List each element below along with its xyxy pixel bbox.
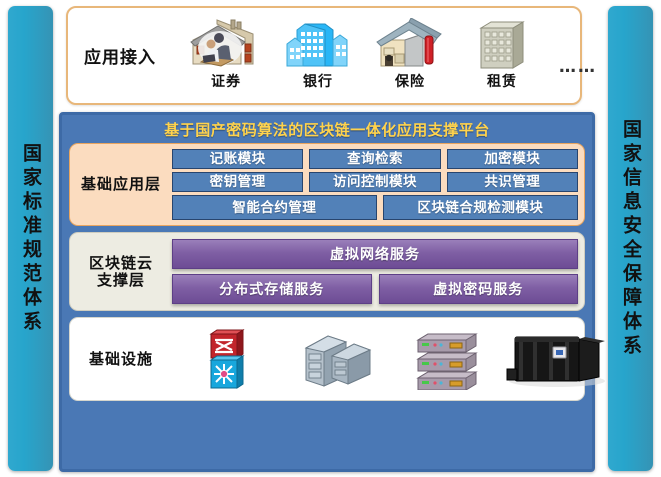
application-access-panel: 应用接入 — [66, 6, 582, 105]
app-item-insurance[interactable]: 保险 — [364, 16, 456, 91]
platform-title: 基于国产密码算法的区块链一体化应用支撑平台 — [62, 115, 592, 143]
right-pillar-information-security: 国家信息安全保障体系 — [608, 6, 653, 471]
basic-application-modules: 记账模块 密钥管理 查询检索 访问控制模块 加密模块 共识管理 — [172, 149, 578, 220]
layer-blockchain-cloud-support-label: 区块链云 支撑层 — [70, 255, 172, 290]
layer-basic-application: 基础应用层 记账模块 密钥管理 查询检索 访问控制模块 — [69, 143, 585, 226]
layer-infrastructure-label: 基础设施 — [70, 351, 172, 368]
securities-office-icon — [180, 16, 272, 70]
diagram-canvas: 国家标准规范体系 国家信息安全保障体系 应用接入 — [0, 0, 661, 477]
application-access-label: 应用接入 — [84, 43, 180, 68]
left-pillar-label: 国家标准规范体系 — [21, 143, 40, 335]
app-item-label: 银行 — [272, 71, 364, 91]
rack-servers-icon — [392, 324, 502, 394]
module-access-control[interactable]: 访问控制模块 — [309, 172, 440, 192]
service-virtual-network[interactable]: 虚拟网络服务 — [172, 239, 578, 269]
layer-blockchain-cloud-support: 区块链云 支撑层 虚拟网络服务 分布式存储服务 虚拟密码服务 — [69, 232, 585, 311]
service-distributed-storage[interactable]: 分布式存储服务 — [172, 274, 372, 304]
mainframe-storage-icon — [502, 324, 612, 394]
left-pillar-national-standards: 国家标准规范体系 — [8, 6, 53, 471]
layer-label-line1: 区块链云 — [70, 255, 172, 272]
app-items-more-ellipsis: …… — [548, 57, 608, 91]
server-rack-icon — [282, 324, 392, 394]
insurance-house-icon — [364, 16, 456, 70]
app-item-leasing[interactable]: 租赁 — [456, 16, 548, 91]
right-pillar-label: 国家信息安全保障体系 — [621, 119, 640, 359]
module-key-management[interactable]: 密钥管理 — [172, 172, 303, 192]
layer-infrastructure: 基础设施 — [69, 317, 585, 401]
app-item-label: 租赁 — [456, 71, 548, 91]
leasing-building-icon — [456, 16, 548, 70]
module-smart-contract-management[interactable]: 智能合约管理 — [172, 195, 377, 220]
layer-label-line2: 支撑层 — [70, 272, 172, 289]
layer-basic-application-label: 基础应用层 — [70, 176, 172, 193]
network-router-switch-icon — [172, 324, 282, 394]
app-item-securities[interactable]: 证券 — [180, 16, 272, 91]
platform-container: 基于国产密码算法的区块链一体化应用支撑平台 基础应用层 记账模块 密钥管理 查询… — [59, 112, 595, 472]
module-encryption[interactable]: 加密模块 — [447, 149, 578, 169]
module-consensus-management[interactable]: 共识管理 — [447, 172, 578, 192]
infrastructure-icons — [172, 322, 612, 396]
module-blockchain-compliance-detection[interactable]: 区块链合规检测模块 — [383, 195, 578, 220]
app-item-bank[interactable]: 银行 — [272, 16, 364, 91]
module-accounting[interactable]: 记账模块 — [172, 149, 303, 169]
app-item-label: 证券 — [180, 71, 272, 91]
app-item-label: 保险 — [364, 71, 456, 91]
module-query-retrieval[interactable]: 查询检索 — [309, 149, 440, 169]
service-virtual-cryptography[interactable]: 虚拟密码服务 — [379, 274, 579, 304]
application-access-items: 证券 — [180, 16, 614, 95]
cloud-services: 虚拟网络服务 分布式存储服务 虚拟密码服务 — [172, 239, 578, 304]
bank-building-icon — [272, 16, 364, 70]
